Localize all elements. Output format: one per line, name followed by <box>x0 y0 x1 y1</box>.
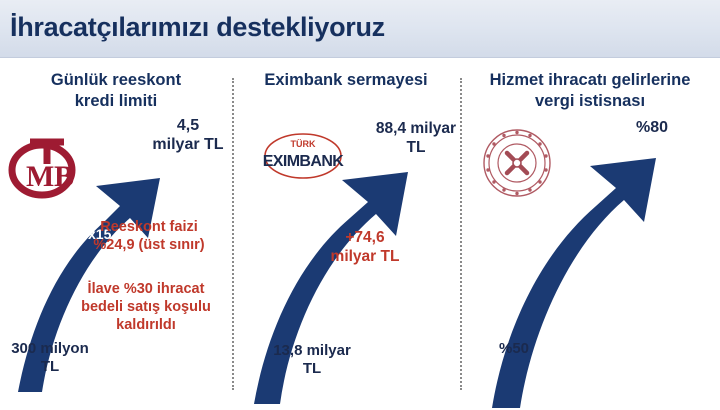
panel-eximbank: Eximbank sermayesi TÜRK EXIMBANK 88,4 mi… <box>232 58 460 406</box>
panel-reeskont: Günlük reeskont kredi limiti M B x15 4,5… <box>0 58 232 406</box>
svg-text:B: B <box>54 160 74 193</box>
header-band: İhracatçılarımızı destekliyoruz <box>0 0 720 58</box>
panel-reeskont-heading-line-2: kredi limiti <box>6 91 226 112</box>
eximbank-end-value-line-2: TL <box>364 139 468 158</box>
eximbank-end-value-line-1: 88,4 milyar <box>364 120 468 139</box>
svg-text:EXIMBANK: EXIMBANK <box>263 153 345 170</box>
reeskont-start-value-line-2: TL <box>2 358 98 376</box>
reeskont-end-value: 4,5 milyar TL <box>140 116 236 154</box>
panel-vergi: Hizmet ihracatı gelirlerine vergi istisn… <box>460 58 720 406</box>
reeskont-note-interest: Reeskont faizi %24,9 (üst sınır) <box>66 218 232 254</box>
reeskont-note-condition-line-3: kaldırıldı <box>60 316 232 334</box>
vergi-start-value-line-1: %50 <box>478 340 550 358</box>
tcmb-logo: M B <box>6 124 84 202</box>
reeskont-note-interest-line-1: Reeskont faizi <box>66 218 232 236</box>
panel-reeskont-heading: Günlük reeskont kredi limiti <box>0 70 232 112</box>
eximbank-logo: TÜRK EXIMBANK <box>250 130 356 182</box>
svg-text:M: M <box>26 160 54 193</box>
svg-text:TÜRK: TÜRK <box>291 139 316 149</box>
vergi-start-value: %50 <box>478 340 550 358</box>
reeskont-start-value-line-1: 300 milyon <box>2 340 98 358</box>
page-title: İhracatçılarımızı destekliyoruz <box>10 12 385 43</box>
reeskont-note-condition-line-2: bedeli satış koşulu <box>60 298 232 316</box>
reeskont-note-condition: İlave %30 ihracat bedeli satış koşulu ka… <box>60 280 232 334</box>
eximbank-note-delta: +74,6 milyar TL <box>310 228 420 267</box>
eximbank-end-value: 88,4 milyar TL <box>364 120 468 157</box>
reeskont-start-value: 300 milyon TL <box>2 340 98 376</box>
reeskont-end-value-line-2: milyar TL <box>140 135 236 154</box>
eximbank-logo-icon: TÜRK EXIMBANK <box>250 130 356 182</box>
vergi-end-value-line-1: %80 <box>616 118 688 137</box>
ministry-seal-icon <box>482 128 552 198</box>
panel-eximbank-heading: Eximbank sermayesi <box>232 70 460 91</box>
eximbank-note-delta-line-2: milyar TL <box>310 247 420 266</box>
panel-vergi-heading: Hizmet ihracatı gelirlerine vergi istisn… <box>460 70 720 112</box>
tcmb-logo-icon: M B <box>6 124 84 202</box>
panel-eximbank-heading-line-1: Eximbank sermayesi <box>238 70 454 91</box>
eximbank-start-value-line-1: 13,8 milyar <box>254 342 370 360</box>
eximbank-start-value-line-2: TL <box>254 360 370 378</box>
reeskont-note-interest-line-2: %24,9 (üst sınır) <box>66 236 232 254</box>
eximbank-start-value: 13,8 milyar TL <box>254 342 370 378</box>
infographic-root: İhracatçılarımızı destekliyoruz Günlük r… <box>0 0 720 406</box>
panel-vergi-heading-line-1: Hizmet ihracatı gelirlerine <box>466 70 714 91</box>
hazine-maliye-bakanligi-seal <box>482 128 552 198</box>
vergi-end-value: %80 <box>616 118 688 137</box>
eximbank-note-delta-line-1: +74,6 <box>310 228 420 247</box>
reeskont-note-condition-line-1: İlave %30 ihracat <box>60 280 232 298</box>
panel-reeskont-heading-line-1: Günlük reeskont <box>6 70 226 91</box>
reeskont-end-value-line-1: 4,5 <box>140 116 236 135</box>
panel-vergi-heading-line-2: vergi istisnası <box>466 91 714 112</box>
